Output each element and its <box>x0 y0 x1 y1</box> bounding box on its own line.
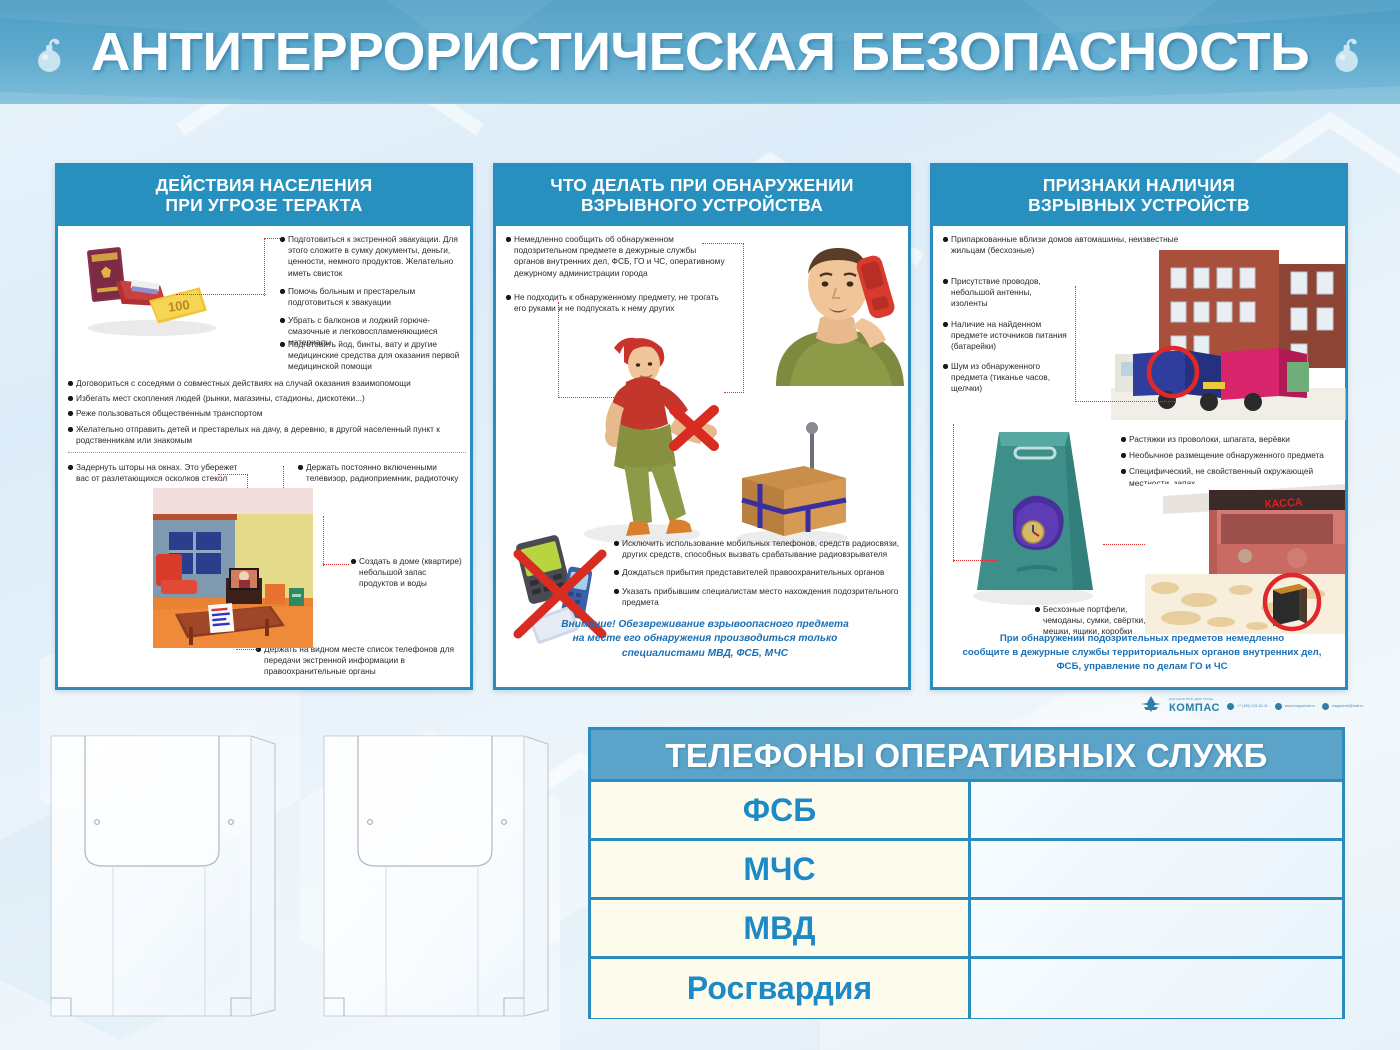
table-cell-value[interactable] <box>971 841 1342 897</box>
list-item: Помочь больным и престарелым подготовить… <box>280 286 466 308</box>
panel-1-top-list: Подготовиться к экстренной эвакуации. Дл… <box>280 234 466 356</box>
panel-3-footer-notice: При обнаружении подозрительных предметов… <box>943 632 1341 674</box>
panel-1-callout-food-water: Создать в доме (квартире) небольшой запа… <box>351 556 466 597</box>
cinema-lobby-with-abandoned-bag-illustration: КАССА <box>1145 484 1345 634</box>
list-item: Необычное размещение обнаруженного предм… <box>1121 450 1337 461</box>
table-cell-label: МВД <box>591 900 971 956</box>
list-item: Немедленно сообщить об обнаруженном подо… <box>506 234 728 279</box>
panel-2-bottom-list: Исключить использование мобильных телефо… <box>614 538 904 615</box>
footer-line-1: При обнаружении подозрительных предметов… <box>943 632 1341 646</box>
panel-3-left-list: Присутствие проводов, небольшой антенны,… <box>943 276 1069 402</box>
panel-3-title-line2: ВЗРЫВНЫХ УСТРОЙСТВ <box>939 195 1339 215</box>
logo-brand: КОМПАС <box>1169 703 1220 714</box>
brochure-holder-right[interactable] <box>318 730 558 1025</box>
living-room-illustration <box>153 488 313 648</box>
svg-text:100: 100 <box>167 297 191 315</box>
contact-website[interactable]: www.magazinall.ru <box>1275 703 1315 710</box>
section-divider <box>68 452 466 453</box>
page-title: АНТИТЕРРОРИСТИЧЕСКАЯ БЕЗОПАСНОСТЬ <box>0 0 1400 104</box>
panel-2-title-line1: ЧТО ДЕЛАТЬ ПРИ ОБНАРУЖЕНИИ <box>502 175 902 195</box>
list-item: Создать в доме (квартире) небольшой запа… <box>351 556 466 590</box>
bomb-icon <box>1332 4 1367 104</box>
table-cell-label: Росгвардия <box>591 959 971 1018</box>
list-item: Указать прибывшим специалистам место нах… <box>614 586 904 608</box>
list-item: Желательно отправить детей и престарелых… <box>68 424 466 446</box>
contact-email[interactable]: magazinall@mail.ru <box>1322 703 1364 710</box>
leader-line <box>743 243 744 393</box>
panel-2-warning: Внимание! Обезвреживание взрывоопасного … <box>506 618 904 661</box>
panel-3-header: ПРИЗНАКИ НАЛИЧИЯ ВЗРЫВНЫХ УСТРОЙСТВ <box>933 166 1345 226</box>
emergency-phone-table: ТЕЛЕФОНЫ ОПЕРАТИВНЫХ СЛУЖБ ФСБ МЧС МВД Р… <box>588 727 1345 1019</box>
panel-what-to-do: ЧТО ДЕЛАТЬ ПРИ ОБНАРУЖЕНИИ ВЗРЫВНОГО УСТ… <box>493 163 911 690</box>
list-item: Шум из обнаруженного предмета (тиканье ч… <box>943 361 1069 395</box>
panel-2-title-line2: ВЗРЫВНОГО УСТРОЙСТВА <box>502 195 902 215</box>
list-item: Держать на видном месте список телефонов… <box>256 644 466 678</box>
woman-reaching-for-package-illustration <box>578 336 728 546</box>
man-on-phone-illustration <box>746 226 914 386</box>
leader-line <box>264 238 265 296</box>
list-item: Реже пользоваться общественным транспорт… <box>68 408 466 419</box>
phone-table-title: ТЕЛЕФОНЫ ОПЕРАТИВНЫХ СЛУЖБ <box>591 730 1342 782</box>
warning-line-2: на месте его обнаружения производиться т… <box>506 632 904 646</box>
suspicious-package-with-antenna-illustration <box>730 416 860 546</box>
list-item: Подготовить йод, бинты, вату и другие ме… <box>280 339 466 373</box>
phone-icon <box>1227 703 1234 710</box>
parked-trucks-near-building-illustration <box>1111 250 1346 420</box>
list-item: Присутствие проводов, небольшой антенны,… <box>943 276 1069 310</box>
page-title-text: АНТИТЕРРОРИСТИЧЕСКАЯ БЕЗОПАСНОСТЬ <box>91 22 1309 82</box>
envelope-icon <box>1322 703 1329 710</box>
panel-1-top-list-overflow: Подготовить йод, бинты, вату и другие ме… <box>280 339 466 380</box>
leader-line <box>323 516 324 566</box>
list-item: Дождаться прибытия представителей правоо… <box>614 567 904 578</box>
contact-website-text: www.magazinall.ru <box>1285 704 1315 708</box>
leader-line <box>323 564 349 565</box>
leader-line <box>1075 286 1076 402</box>
panel-population-actions: ДЕЙСТВИЯ НАСЕЛЕНИЯ ПРИ УГРОЗЕ ТЕРАКТА <box>55 163 473 690</box>
passport-documents-money-illustration: 100 <box>72 240 222 340</box>
panel-3-title-line1: ПРИЗНАКИ НАЛИЧИЯ <box>939 175 1339 195</box>
panel-1-header: ДЕЙСТВИЯ НАСЕЛЕНИЯ ПРИ УГРОЗЕ ТЕРАКТА <box>58 166 470 226</box>
panel-1-wide-list: Договориться с соседями о совместных дей… <box>68 378 466 450</box>
panel-1-callout-phone-list: Держать на видном месте список телефонов… <box>256 644 466 685</box>
globe-icon <box>1275 703 1282 710</box>
table-cell-value[interactable] <box>971 959 1342 1018</box>
warning-line-3: специалистами МВД, ФСБ, МЧС <box>506 647 904 661</box>
table-row: Росгвардия <box>591 959 1342 1018</box>
panel-1-callout-curtains: Задернуть шторы на окнах. Это убережет в… <box>68 462 243 491</box>
table-cell-label: МЧС <box>591 841 971 897</box>
footer-line-2: сообщите в дежурные службы территориальн… <box>943 646 1341 660</box>
footer-line-3: ФСБ, управление по делам ГО и ЧС <box>943 660 1341 674</box>
list-item: Держать постоянно включенными телевизор,… <box>298 462 466 484</box>
contact-phone: +7 (495) 215-62-41 <box>1227 703 1268 710</box>
table-cell-label: ФСБ <box>591 782 971 838</box>
warning-line-1: Внимание! Обезвреживание взрывоопасного … <box>506 618 904 632</box>
list-item: Подготовиться к экстренной эвакуации. Дл… <box>280 234 466 279</box>
list-item: Договориться с соседями о совместных дей… <box>68 378 466 389</box>
company-logo-row: МАГАЗИН ВСЁ ДЛЯ ТРУДА КОМПАС +7 (495) 21… <box>1140 694 1350 718</box>
list-item: Растяжки из проволоки, шпагата, верёвки <box>1121 434 1337 445</box>
panel-signs-of-devices: ПРИЗНАКИ НАЛИЧИЯ ВЗРЫВНЫХ УСТРОЙСТВ Прип… <box>930 163 1348 690</box>
brochure-holder-left[interactable] <box>45 730 285 1025</box>
panel-2-top-list: Немедленно сообщить об обнаруженном подо… <box>506 234 728 321</box>
contact-email-text: magazinall@mail.ru <box>1332 704 1364 708</box>
leader-line <box>236 649 258 650</box>
table-row: МВД <box>591 900 1342 959</box>
list-item: Наличие на найденном предмете источников… <box>943 319 1069 353</box>
suspicious-bag-with-clock-illustration <box>961 424 1111 606</box>
table-row: МЧС <box>591 841 1342 900</box>
table-cell-value[interactable] <box>971 782 1342 838</box>
table-cell-value[interactable] <box>971 900 1342 956</box>
list-item: Избегать мест скопления людей (рынки, ма… <box>68 393 466 404</box>
panel-1-callout-tv-radio: Держать постоянно включенными телевизор,… <box>298 462 466 491</box>
panel-1-title-line1: ДЕЙСТВИЯ НАСЕЛЕНИЯ <box>64 175 464 195</box>
list-item: Задернуть шторы на окнах. Это убережет в… <box>68 462 243 484</box>
poster-header: АНТИТЕРРОРИСТИЧЕСКАЯ БЕЗОПАСНОСТЬ <box>0 0 1400 104</box>
contact-phone-text: +7 (495) 215-62-41 <box>1237 704 1268 708</box>
list-item: Исключить использование мобильных телефо… <box>614 538 904 560</box>
list-item: Не подходить к обнаруженному предмету, н… <box>506 292 728 314</box>
bomb-icon <box>34 4 69 104</box>
compass-star-icon <box>1140 695 1162 718</box>
panel-1-title-line2: ПРИ УГРОЗЕ ТЕРАКТА <box>64 195 464 215</box>
table-row: ФСБ <box>591 782 1342 841</box>
information-stand: АНТИТЕРРОРИСТИЧЕСКАЯ БЕЗОПАСНОСТЬ ДЕЙСТВ… <box>0 0 1400 1050</box>
panel-2-header: ЧТО ДЕЛАТЬ ПРИ ОБНАРУЖЕНИИ ВЗРЫВНОГО УСТ… <box>496 166 908 226</box>
leader-line <box>953 424 954 562</box>
